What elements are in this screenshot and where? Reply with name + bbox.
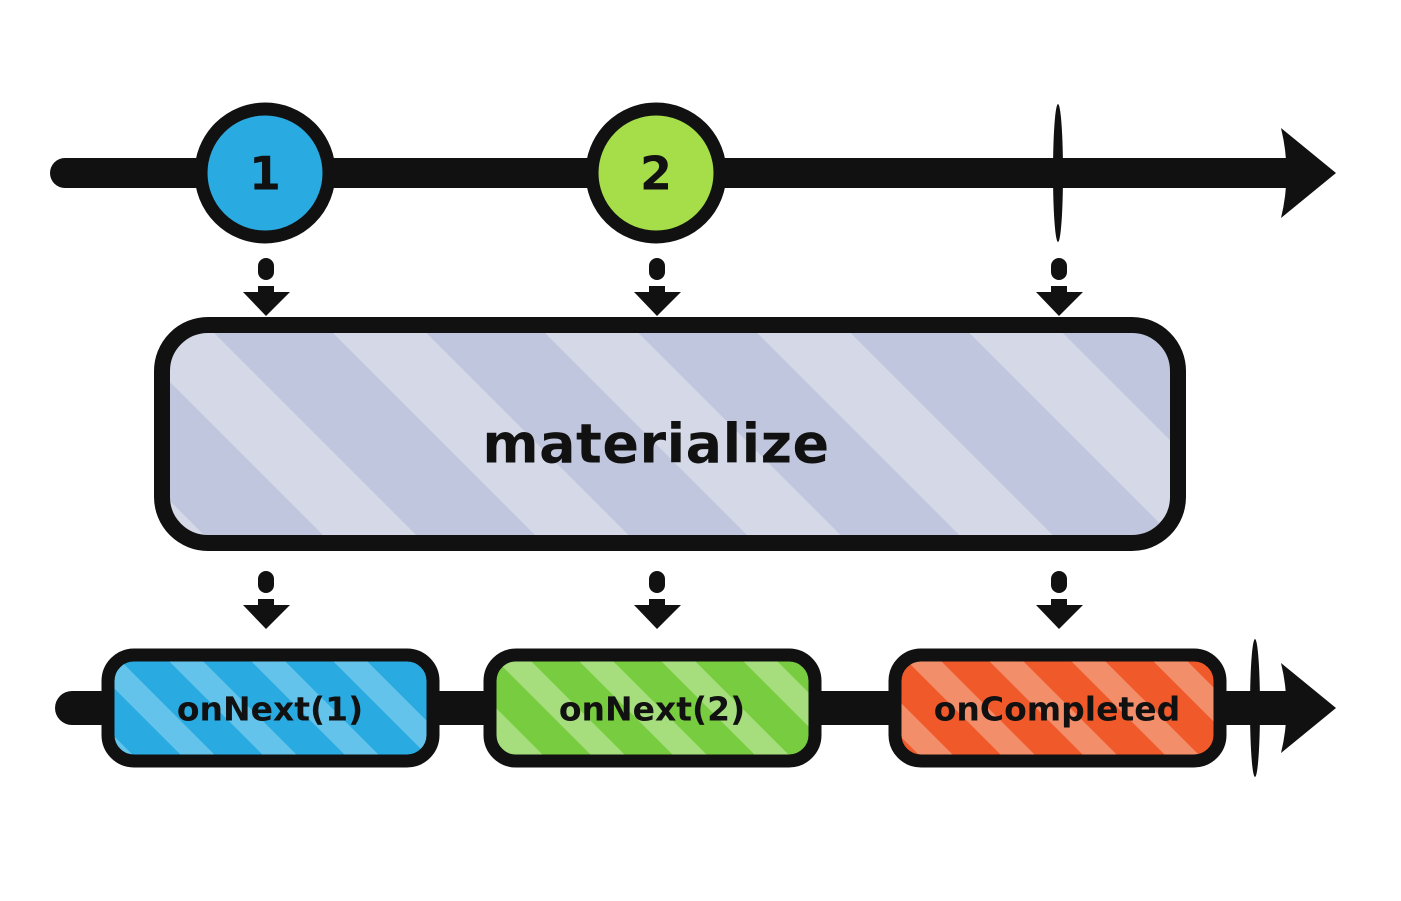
output-arrow-1 [243, 571, 290, 629]
marble-1[interactable]: 1 [201, 109, 329, 237]
input-arrow-1 [243, 258, 290, 316]
input-arrows-group [243, 258, 1083, 316]
operator-box[interactable]: materialize [162, 325, 1178, 543]
diagram-svg: 1 2 materialize [0, 0, 1401, 901]
operator-box-label: materialize [482, 413, 829, 476]
notification-onnext-1-label: onNext(1) [177, 690, 363, 729]
result-timeline-group: onNext(1) onNext(2) onCompleted [72, 639, 1336, 777]
notification-onnext-2[interactable]: onNext(2) [490, 655, 815, 761]
input-arrow-2 [634, 258, 681, 316]
notification-onnext-2-label: onNext(2) [559, 690, 745, 729]
source-timeline-group: 1 2 [65, 104, 1336, 242]
input-arrow-complete [1036, 258, 1083, 316]
notification-oncompleted[interactable]: onCompleted [895, 655, 1220, 761]
marble-2[interactable]: 2 [592, 109, 720, 237]
result-arrow-head [1281, 663, 1336, 753]
notification-onnext-1[interactable]: onNext(1) [108, 655, 433, 761]
output-arrows-group [243, 571, 1083, 629]
marble-2-label: 2 [640, 147, 672, 201]
source-arrow-head [1281, 128, 1336, 218]
marble-1-label: 1 [249, 147, 281, 201]
output-arrow-3 [1036, 571, 1083, 629]
output-arrow-2 [634, 571, 681, 629]
notification-oncompleted-label: onCompleted [934, 690, 1181, 729]
marble-diagram-canvas: 1 2 materialize [0, 0, 1401, 901]
